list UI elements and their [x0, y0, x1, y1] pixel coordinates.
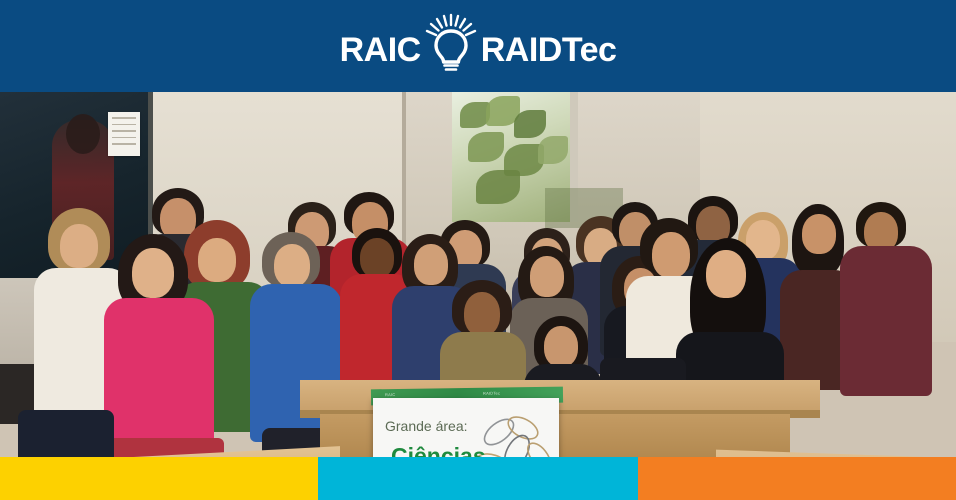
- sign-title: Ciências Sociais Aplicadas: [391, 442, 500, 457]
- group-photo: RAIC RAIDTec Grande área: [0, 92, 956, 457]
- orange-bar: [638, 457, 956, 500]
- yellow-bar: [0, 457, 318, 500]
- cyan-bar: [318, 457, 638, 500]
- office-chair-left: [18, 410, 114, 457]
- site-header: RAIC: [0, 0, 956, 92]
- sign-label: Grande área:: [385, 418, 468, 434]
- brand-word-left: RAIC: [340, 33, 421, 67]
- desk-right-surface: [716, 450, 956, 457]
- sign-band-text-right: RAIDTec: [483, 392, 500, 397]
- grande-area-sign: Grande área: Ciências Sociais Aplicadas: [373, 398, 559, 457]
- footer-color-bars: [0, 457, 956, 500]
- brand-word-right: RAIDTec: [481, 33, 617, 67]
- banner-page: RAIC: [0, 0, 956, 500]
- raic-raidtec-logo[interactable]: RAIC: [340, 19, 617, 81]
- sign-band-text-left: RAIC: [385, 393, 395, 398]
- sign-title-line-1: Ciências: [391, 442, 500, 457]
- lightbulb-icon: [423, 13, 479, 75]
- wall-notice-paper: [108, 112, 140, 156]
- reflected-person-head: [66, 114, 100, 154]
